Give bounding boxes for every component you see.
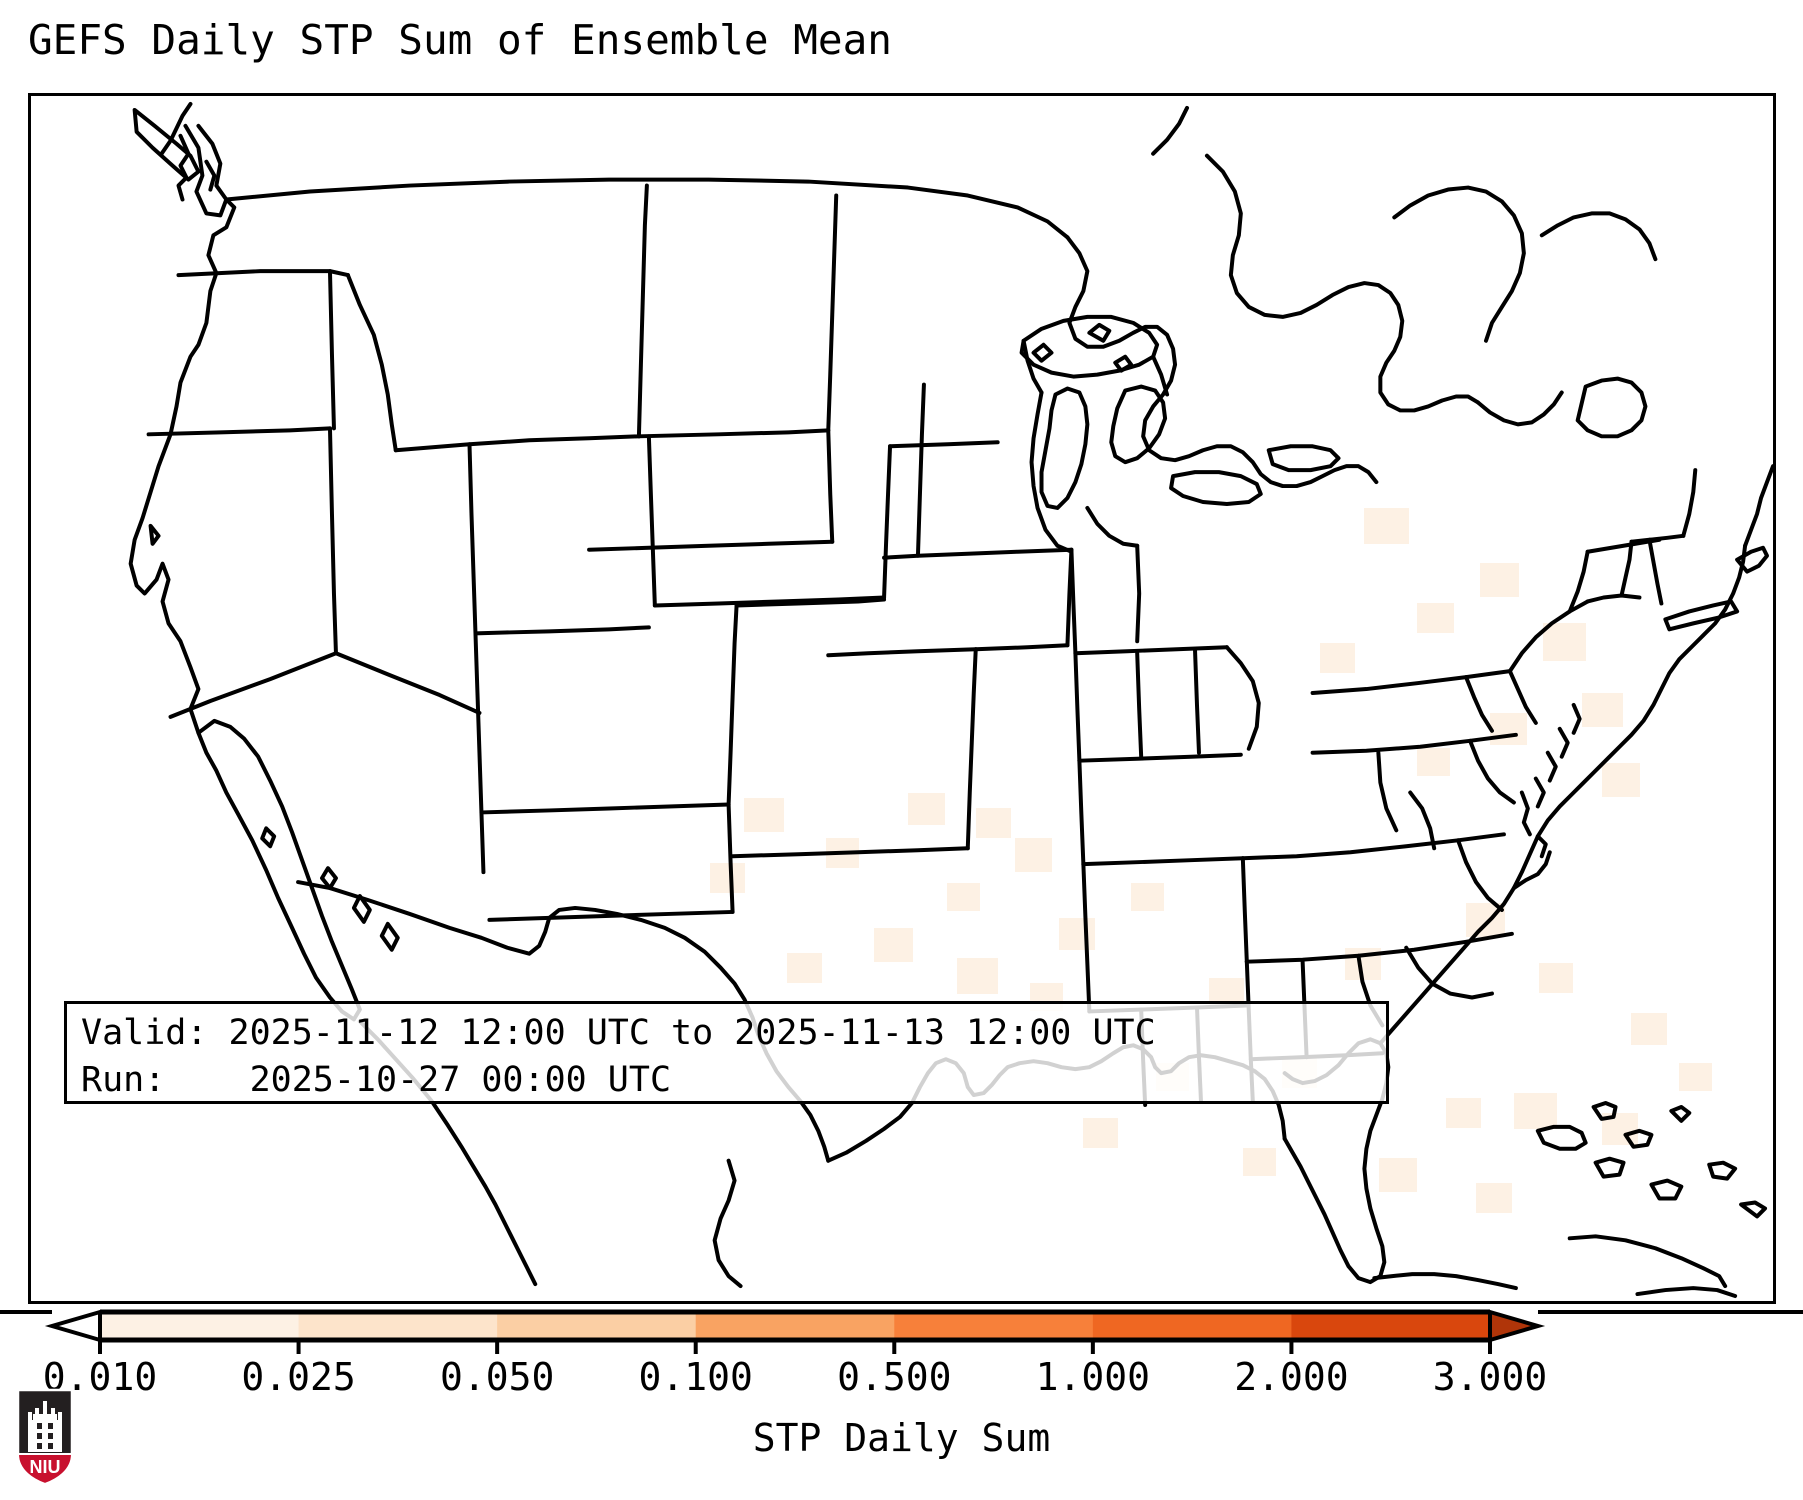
colorbar-tick-label: 0.500 bbox=[837, 1355, 951, 1399]
colorbar-band bbox=[894, 1312, 1093, 1340]
colorbar[interactable] bbox=[0, 1300, 1803, 1360]
niu-shield-icon: NIU bbox=[16, 1388, 74, 1486]
colorbar-band bbox=[497, 1312, 696, 1340]
colorbar-tick-label: 0.050 bbox=[440, 1355, 554, 1399]
colorbar-under-arrow bbox=[52, 1312, 100, 1340]
map-panel: Valid: 2025-11-12 12:00 UTC to 2025-11-1… bbox=[28, 93, 1776, 1304]
colorbar-tick-label: 2.000 bbox=[1234, 1355, 1348, 1399]
run-time-line: Run: 2025-10-27 00:00 UTC bbox=[81, 1057, 1372, 1104]
colorbar-band bbox=[100, 1312, 299, 1340]
info-textbox: Valid: 2025-11-12 12:00 UTC to 2025-11-1… bbox=[64, 1001, 1389, 1104]
basemap-svg bbox=[31, 96, 1773, 1301]
colorbar-axis-label: STP Daily Sum bbox=[0, 1415, 1803, 1461]
colorbar-bands bbox=[100, 1312, 1491, 1340]
colorbar-band bbox=[1093, 1312, 1292, 1340]
colorbar-tick-label: 1.000 bbox=[1036, 1355, 1150, 1399]
colorbar-tick-label: 0.025 bbox=[241, 1355, 355, 1399]
colorbar-band bbox=[1291, 1312, 1490, 1340]
colorbar-tick-labels: 0.0100.0250.0500.1000.5001.0002.0003.000 bbox=[0, 1355, 1803, 1401]
colorbar-tick-label: 0.100 bbox=[639, 1355, 753, 1399]
colorbar-band bbox=[696, 1312, 895, 1340]
colorbar-tick-label: 3.000 bbox=[1433, 1355, 1547, 1399]
page-title: GEFS Daily STP Sum of Ensemble Mean bbox=[28, 16, 892, 64]
colorbar-band bbox=[299, 1312, 498, 1340]
colorbar-svg[interactable] bbox=[0, 1300, 1803, 1360]
niu-logo: NIU bbox=[16, 1388, 74, 1486]
niu-wordmark: NIU bbox=[30, 1457, 61, 1477]
valid-time-line: Valid: 2025-11-12 12:00 UTC to 2025-11-1… bbox=[81, 1010, 1372, 1057]
colorbar-over-arrow bbox=[1490, 1312, 1538, 1340]
